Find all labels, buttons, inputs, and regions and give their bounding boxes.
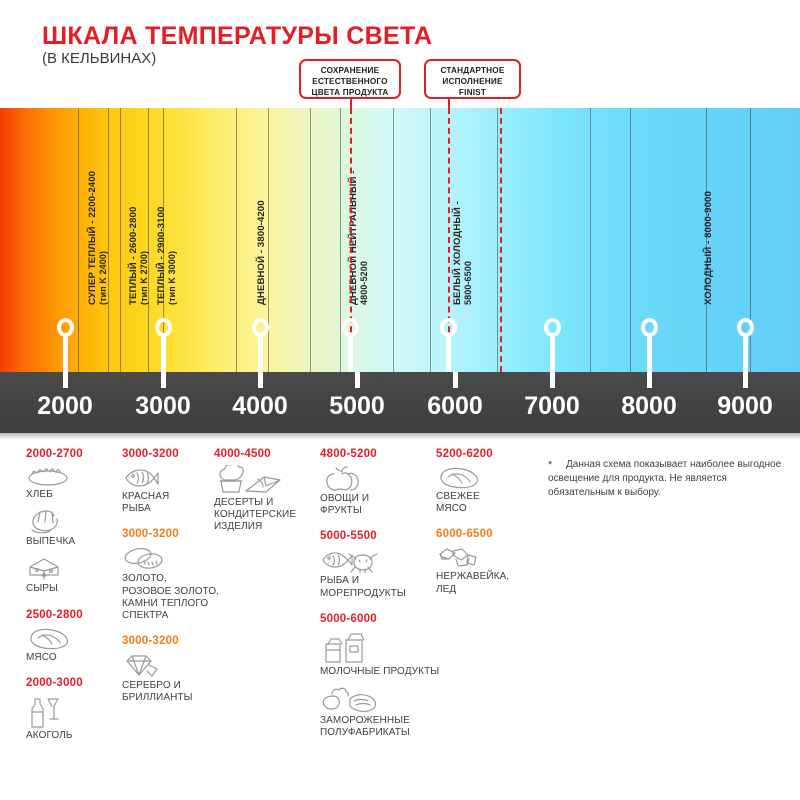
tick-mark-8000 bbox=[647, 372, 652, 388]
legend-group: 3000-3200СЕРЕБРО ИБРИЛЛИАНТЫ bbox=[122, 635, 219, 704]
product-legend: 2000-2700ХЛЕБВЫПЕЧКАСЫРЫ2500-2800МЯСО200… bbox=[0, 448, 800, 800]
callout-line: ИСПОЛНЕНИЕ bbox=[432, 77, 513, 88]
frozen-food-icon bbox=[320, 685, 439, 713]
legend-group: 5000-5500РЫБА ИМОРЕПРОДУКТЫ bbox=[320, 530, 439, 599]
legend-item: ДЕСЕРТЫ ИКОНДИТЕРСКИЕИЗДЕЛИЯ bbox=[214, 465, 296, 534]
legend-item-label: ЗАМОРОЖЕННЫЕПОЛУФАБРИКАТЫ bbox=[320, 715, 439, 739]
legend-range-label: 3000-3200 bbox=[122, 448, 219, 460]
band-separator bbox=[310, 108, 311, 372]
dessert-icon bbox=[214, 465, 296, 495]
legend-group: 2000-2700ХЛЕБВЫПЕЧКАСЫРЫ bbox=[26, 448, 83, 596]
legend-range-label: 5000-6000 bbox=[320, 613, 439, 625]
fruits-icon bbox=[320, 465, 439, 491]
legend-item-label: КРАСНАЯРЫБА bbox=[122, 491, 219, 515]
tick-label-3000: 3000 bbox=[135, 392, 191, 421]
band-label-sub: 4800-5200 bbox=[359, 170, 369, 305]
legend-item: МЯСО bbox=[26, 626, 83, 664]
legend-group: 4000-4500ДЕСЕРТЫ ИКОНДИТЕРСКИЕИЗДЕЛИЯ bbox=[214, 448, 296, 534]
band-separator bbox=[430, 108, 431, 372]
band-dashed-line bbox=[500, 108, 502, 372]
band-separator bbox=[393, 108, 394, 372]
tick-label-9000: 9000 bbox=[717, 392, 773, 421]
legend-range-label: 4000-4500 bbox=[214, 448, 296, 460]
legend-item-label: ХЛЕБ bbox=[26, 489, 83, 501]
tick-label-2000: 2000 bbox=[37, 392, 93, 421]
legend-range-label: 6000-6500 bbox=[436, 528, 509, 540]
pin-stem bbox=[550, 335, 555, 372]
legend-column-col-1: 2000-2700ХЛЕБВЫПЕЧКАСЫРЫ2500-2800МЯСО200… bbox=[26, 448, 83, 755]
legend-range-label: 2000-3000 bbox=[26, 677, 83, 689]
cheese-icon bbox=[26, 555, 83, 581]
legend-item: СЕРЕБРО ИБРИЛЛИАНТЫ bbox=[122, 652, 219, 704]
band-label-text: ДНЕВНОЙ - 3800-4200 bbox=[256, 200, 267, 305]
legend-item-label: НЕРЖАВЕЙКА,ЛЕД bbox=[436, 571, 509, 595]
legend-group: 6000-6500НЕРЖАВЕЙКА,ЛЕД bbox=[436, 528, 509, 595]
legend-group: 3000-3200КРАСНАЯРЫБА bbox=[122, 448, 219, 515]
band-separator bbox=[236, 108, 237, 372]
legend-item-label: МОЛОЧНЫЕ ПРОДУКТЫ bbox=[320, 666, 439, 678]
legend-group: 2000-3000АКОГОЛЬ bbox=[26, 677, 83, 742]
band-label-sub: (тип K 2400) bbox=[98, 171, 108, 305]
bread-icon bbox=[26, 465, 83, 487]
legend-column-col-2: 3000-3200КРАСНАЯРЫБА3000-3200ЗОЛОТО,РОЗО… bbox=[122, 448, 219, 718]
legend-item: РЫБА ИМОРЕПРОДУКТЫ bbox=[320, 547, 439, 599]
legend-item: ЗОЛОТО,РОЗОВОЕ ЗОЛОТО,КАМНИ ТЕПЛОГОСПЕКТ… bbox=[122, 545, 219, 622]
pin-stem bbox=[161, 335, 166, 372]
band-separator bbox=[630, 108, 631, 372]
callout-line: FINIST bbox=[432, 88, 513, 99]
callout-line: ЦВЕТА ПРОДУКТА bbox=[307, 88, 393, 99]
tick-mark-3000 bbox=[161, 372, 166, 388]
pin-stem bbox=[446, 335, 451, 372]
infographic-root: ШКАЛА ТЕМПЕРАТУРЫ СВЕТА (В КЕЛЬВИНАХ) СО… bbox=[0, 0, 800, 800]
pin-stem bbox=[348, 335, 353, 372]
legend-range-label: 5200-6200 bbox=[436, 448, 509, 460]
legend-item: ЗАМОРОЖЕННЫЕПОЛУФАБРИКАТЫ bbox=[320, 685, 439, 739]
tick-label-4000: 4000 bbox=[232, 392, 288, 421]
callout-finist-standard: СТАНДАРТНОЕИСПОЛНЕНИЕFINIST bbox=[424, 59, 521, 99]
meat-icon bbox=[26, 626, 83, 650]
footnote-marker: * bbox=[548, 458, 552, 473]
tick-label-7000: 7000 bbox=[524, 392, 580, 421]
band-label-warm-3000: ТЕПЛЫЙ - 2900-3100(тип K 3000) bbox=[156, 207, 177, 305]
legend-item-label: СЕРЕБРО ИБРИЛЛИАНТЫ bbox=[122, 680, 219, 704]
legend-group: 5000-6000МОЛОЧНЫЕ ПРОДУКТЫЗАМОРОЖЕННЫЕПО… bbox=[320, 613, 439, 740]
legend-column-col-4: 4800-5200ОВОЩИ ИФРУКТЫ5000-5500РЫБА ИМОР… bbox=[320, 448, 439, 752]
legend-item: НЕРЖАВЕЙКА,ЛЕД bbox=[436, 545, 509, 595]
legend-item-label: СЫРЫ bbox=[26, 583, 83, 595]
legend-range-label: 2000-2700 bbox=[26, 448, 83, 460]
pin-stem bbox=[743, 335, 748, 372]
legend-group: 2500-2800МЯСО bbox=[26, 609, 83, 664]
band-label-text: БЕЛЫЙ ХОЛОДНЫЙ - bbox=[452, 201, 463, 305]
band-label-text: ТЕПЛЫЙ - 2600-2800 bbox=[128, 207, 139, 305]
steel-ice-icon bbox=[436, 545, 509, 569]
band-label-cold: ХОЛОДНЫЙ - 8000-9000 bbox=[703, 191, 714, 305]
band-separator bbox=[497, 108, 498, 372]
tick-mark-7000 bbox=[550, 372, 555, 388]
legend-item: АКОГОЛЬ bbox=[26, 694, 83, 742]
tick-mark-2000 bbox=[63, 372, 68, 388]
page-title: ШКАЛА ТЕМПЕРАТУРЫ СВЕТА bbox=[42, 22, 432, 51]
band-label-text: ХОЛОДНЫЙ - 8000-9000 bbox=[703, 191, 714, 305]
band-label-sub: 5800-6500 bbox=[463, 201, 473, 305]
callout-line: ЕСТЕСТВЕННОГО bbox=[307, 77, 393, 88]
band-label-daylight: ДНЕВНОЙ - 3800-4200 bbox=[256, 200, 267, 305]
band-separator bbox=[120, 108, 121, 372]
legend-range-label: 3000-3200 bbox=[122, 635, 219, 647]
band-separator bbox=[78, 108, 79, 372]
tick-mark-5000 bbox=[355, 372, 360, 388]
legend-item-label: СВЕЖЕЕМЯСО bbox=[436, 491, 509, 515]
band-separator bbox=[268, 108, 269, 372]
pin-stem bbox=[63, 335, 68, 372]
legend-range-label: 4800-5200 bbox=[320, 448, 439, 460]
temperature-gradient-band: СУПЕР ТЕПЛЫЙ - 2200-2400(тип K 2400)ТЕПЛ… bbox=[0, 108, 800, 372]
diamond-icon bbox=[122, 652, 219, 678]
callout-line: СОХРАНЕНИЕ bbox=[307, 66, 393, 77]
footnote: * Данная схема показывает наиболее выгод… bbox=[548, 458, 796, 499]
tick-mark-9000 bbox=[743, 372, 748, 388]
page-subtitle: (В КЕЛЬВИНАХ) bbox=[42, 50, 156, 67]
tick-label-5000: 5000 bbox=[329, 392, 385, 421]
legend-range-label: 5000-5500 bbox=[320, 530, 439, 542]
legend-item: ВЫПЕЧКА bbox=[26, 508, 83, 548]
legend-item: ОВОЩИ ИФРУКТЫ bbox=[320, 465, 439, 517]
alcohol-icon bbox=[26, 694, 83, 728]
legend-item-label: ЗОЛОТО,РОЗОВОЕ ЗОЛОТО,КАМНИ ТЕПЛОГОСПЕКТ… bbox=[122, 573, 219, 622]
band-label-sub: (тип K 3000) bbox=[167, 207, 177, 305]
band-separator bbox=[340, 108, 341, 372]
legend-item: КРАСНАЯРЫБА bbox=[122, 465, 219, 515]
band-label-super-warm: СУПЕР ТЕПЛЫЙ - 2200-2400(тип K 2400) bbox=[87, 171, 108, 305]
pin-stem bbox=[647, 335, 652, 372]
legend-column-col-5: 5200-6200СВЕЖЕЕМЯСО6000-6500НЕРЖАВЕЙКА,Л… bbox=[436, 448, 509, 609]
red-fish-icon bbox=[122, 465, 219, 489]
legend-item-label: ОВОЩИ ИФРУКТЫ bbox=[320, 493, 439, 517]
tick-label-6000: 6000 bbox=[427, 392, 483, 421]
footnote-text: Данная схема показывает наиболее выгодно… bbox=[548, 459, 781, 498]
dairy-icon bbox=[320, 630, 439, 664]
pastry-icon bbox=[26, 508, 83, 534]
fresh-meat-icon bbox=[436, 465, 509, 489]
callout-line: СТАНДАРТНОЕ bbox=[432, 66, 513, 77]
legend-group: 5200-6200СВЕЖЕЕМЯСО bbox=[436, 448, 509, 515]
legend-item: ХЛЕБ bbox=[26, 465, 83, 501]
scale-bar-shadow bbox=[0, 433, 800, 440]
band-label-text: ТЕПЛЫЙ - 2900-3100 bbox=[156, 207, 167, 305]
kelvin-scale-bar: 20003000400050006000700080009000 bbox=[0, 372, 800, 433]
legend-item-label: РЫБА ИМОРЕПРОДУКТЫ bbox=[320, 575, 439, 599]
legend-item-label: АКОГОЛЬ bbox=[26, 730, 83, 742]
legend-group: 3000-3200ЗОЛОТО,РОЗОВОЕ ЗОЛОТО,КАМНИ ТЕП… bbox=[122, 528, 219, 622]
legend-range-label: 2500-2800 bbox=[26, 609, 83, 621]
band-separator bbox=[590, 108, 591, 372]
callout-stem-natural-color bbox=[350, 99, 352, 110]
seafood-icon bbox=[320, 547, 439, 573]
legend-item: СВЕЖЕЕМЯСО bbox=[436, 465, 509, 515]
legend-item-label: ВЫПЕЧКА bbox=[26, 536, 83, 548]
band-label-text: СУПЕР ТЕПЛЫЙ - 2200-2400 bbox=[87, 171, 98, 305]
legend-range-label: 3000-3200 bbox=[122, 528, 219, 540]
pin-stem bbox=[258, 335, 263, 372]
band-label-warm-2700: ТЕПЛЫЙ - 2600-2800(тип K 2700) bbox=[128, 207, 149, 305]
callout-stem-finist-standard bbox=[448, 99, 450, 110]
legend-item: СЫРЫ bbox=[26, 555, 83, 595]
tick-mark-6000 bbox=[453, 372, 458, 388]
callout-natural-color: СОХРАНЕНИЕЕСТЕСТВЕННОГОЦВЕТА ПРОДУКТА bbox=[299, 59, 401, 99]
legend-item-label: МЯСО bbox=[26, 652, 83, 664]
band-label-sub: (тип K 2700) bbox=[139, 207, 149, 305]
legend-column-col-3: 4000-4500ДЕСЕРТЫ ИКОНДИТЕРСКИЕИЗДЕЛИЯ bbox=[214, 448, 296, 547]
band-label-white-cold: БЕЛЫЙ ХОЛОДНЫЙ -5800-6500 bbox=[452, 201, 473, 305]
legend-item: МОЛОЧНЫЕ ПРОДУКТЫ bbox=[320, 630, 439, 678]
legend-group: 4800-5200ОВОЩИ ИФРУКТЫ bbox=[320, 448, 439, 517]
gold-rings-icon bbox=[122, 545, 219, 571]
legend-item-label: ДЕСЕРТЫ ИКОНДИТЕРСКИЕИЗДЕЛИЯ bbox=[214, 497, 296, 534]
tick-mark-4000 bbox=[258, 372, 263, 388]
tick-label-8000: 8000 bbox=[621, 392, 677, 421]
